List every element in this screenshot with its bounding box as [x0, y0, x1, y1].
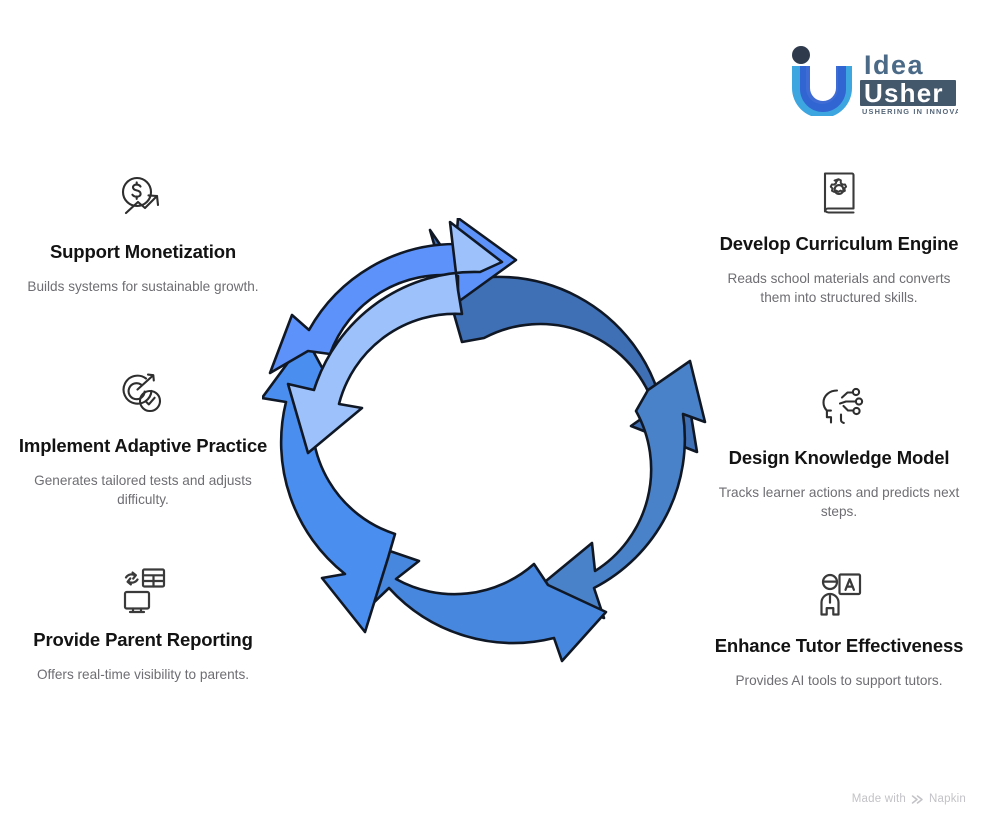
feature-implement-adaptive-practice: Implement Adaptive Practice Generates ta…: [18, 366, 268, 510]
logo-wordmark-idea: Idea: [864, 50, 924, 80]
feature-provide-parent-reporting: Provide Parent Reporting Offers real-tim…: [18, 560, 268, 684]
feature-title: Support Monetization: [18, 240, 268, 265]
tutor-board-icon: [714, 566, 964, 624]
napkin-label: Napkin: [929, 793, 966, 805]
feature-description: Offers real-time visibility to parents.: [18, 665, 268, 684]
feature-description: Reads school materials and converts them…: [714, 269, 964, 308]
napkin-logo-icon: [911, 794, 924, 805]
made-with-label: Made with: [852, 793, 906, 805]
brain-network-icon: [714, 378, 964, 436]
target-check-icon: [18, 366, 268, 424]
napkin-attribution: Made with Napkin: [852, 793, 966, 805]
cycle-segment-right: [535, 361, 705, 618]
feature-title: Design Knowledge Model: [714, 446, 964, 471]
feature-develop-curriculum-engine: Develop Curriculum Engine Reads school m…: [714, 164, 964, 308]
feature-title: Implement Adaptive Practice: [18, 434, 268, 459]
dollar-growth-icon: [18, 172, 268, 230]
cycle-segment-bottom-right: [352, 538, 606, 661]
logo-usher-text: Usher: [864, 78, 944, 108]
logo-tagline: USHERING IN INNOVATION: [862, 107, 958, 116]
feature-description: Tracks learner actions and predicts next…: [714, 483, 964, 522]
infographic-page: Idea Usher USHERING IN INNOVATION Suppor…: [0, 0, 988, 822]
idea-usher-logo: Idea Usher USHERING IN INNOVATION: [788, 44, 958, 116]
feature-support-monetization: Support Monetization Builds systems for …: [18, 172, 268, 296]
feature-title: Enhance Tutor Effectiveness: [714, 634, 964, 659]
feature-description: Provides AI tools to support tutors.: [714, 671, 964, 690]
feature-title: Develop Curriculum Engine: [714, 232, 964, 257]
logo-idea-text: Idea: [864, 50, 924, 80]
feature-design-knowledge-model: Design Knowledge Model Tracks learner ac…: [714, 378, 964, 522]
feature-description: Builds systems for sustainable growth.: [18, 277, 268, 296]
cycle-diagram: [262, 218, 714, 690]
feature-description: Generates tailored tests and adjusts dif…: [18, 471, 268, 510]
book-gear-icon: [714, 164, 964, 222]
monitor-report-icon: [18, 560, 268, 618]
feature-enhance-tutor-effectiveness: Enhance Tutor Effectiveness Provides AI …: [714, 566, 964, 690]
feature-title: Provide Parent Reporting: [18, 628, 268, 653]
